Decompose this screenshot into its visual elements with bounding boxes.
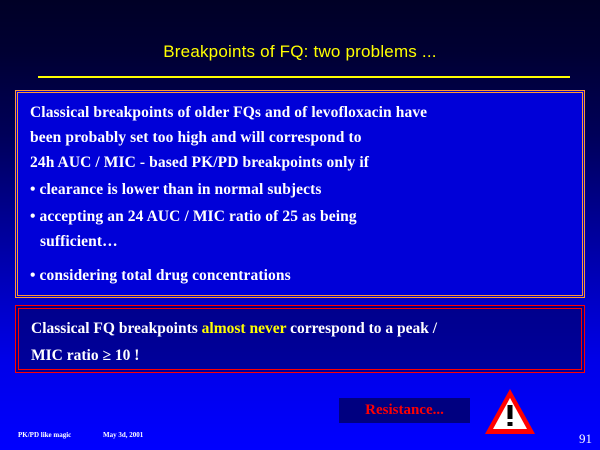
alert-line-2: MIC ratio ≥ 10 ! — [31, 342, 571, 369]
body-line-3: 24h AUC / MIC - based PK/PD breakpoints … — [30, 150, 572, 175]
bullet-item-auc-ratio: • accepting an 24 AUC / MIC ratio of 25 … — [30, 204, 572, 229]
resistance-badge: Resistance... — [339, 398, 470, 423]
page-title: Breakpoints of FQ: two problems ... — [0, 42, 600, 62]
alert-text-before: Classical FQ breakpoints — [31, 320, 202, 337]
warning-triangle-icon — [484, 388, 536, 436]
page-number: 91 — [579, 431, 592, 447]
bullet-item-clearance: • clearance is lower than in normal subj… — [30, 177, 572, 202]
slide-canvas: Breakpoints of FQ: two problems ... Clas… — [0, 0, 600, 450]
body-line-1: Classical breakpoints of older FQs and o… — [30, 100, 572, 125]
title-divider — [38, 76, 570, 78]
main-content-box: Classical breakpoints of older FQs and o… — [15, 90, 585, 298]
resistance-label: Resistance... — [365, 402, 444, 419]
warning-triangle-svg — [484, 388, 536, 436]
footer-date: May 3d, 2001 — [103, 431, 143, 439]
bullet-item-total-drug: • considering total drug concentrations — [30, 263, 572, 288]
alert-text-after: correspond to a peak / — [286, 320, 437, 337]
body-line-2: been probably set too high and will corr… — [30, 125, 572, 150]
alert-highlight: almost never — [202, 320, 287, 337]
alert-line-1: Classical FQ breakpoints almost never co… — [31, 315, 571, 342]
footer-author: PK/PD like magic — [18, 431, 71, 439]
bullet-item-auc-ratio-continuation: sufficient… — [30, 229, 572, 254]
alert-box: Classical FQ breakpoints almost never co… — [15, 305, 585, 373]
